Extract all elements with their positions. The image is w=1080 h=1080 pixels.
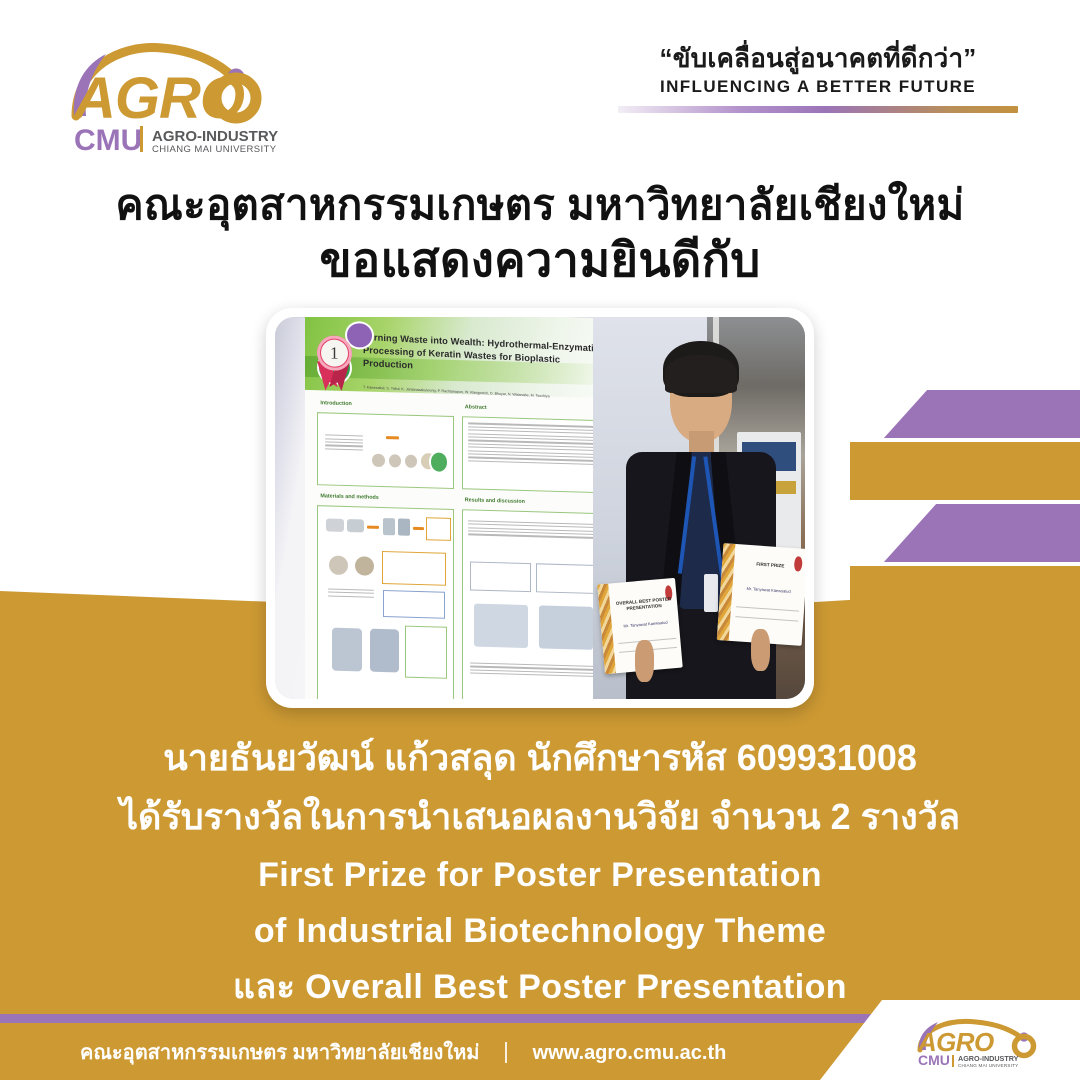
tagline-english: INFLUENCING A BETTER FUTURE — [618, 77, 1018, 97]
poster-figure — [370, 628, 400, 672]
agro-cmu-logo-footer: AGRO CMU AGRO-INDUSTRY CHIANG MAI UNIVER… — [908, 1016, 1058, 1068]
first-place-ribbon-icon: 1 — [312, 333, 358, 392]
poster-arrow — [386, 436, 400, 439]
certificate-rule — [736, 607, 799, 612]
congratulations-poster: AGRO CMU AGRO-INDUSTRY CHIANG MAI UNIVER… — [0, 0, 1080, 1080]
award-line-theme: of Industrial Biotechnology Theme — [0, 909, 1080, 953]
award-photo: Turning Waste into Wealth: Hydrothermal-… — [275, 317, 805, 699]
person-hair-front — [665, 355, 737, 393]
svg-text:CMU: CMU — [918, 1052, 950, 1068]
poster-section-label-materials: Materials and methods — [320, 493, 378, 501]
poster-chart — [474, 604, 528, 648]
stripe-purple-3 — [1064, 504, 1080, 562]
footer-website-link[interactable]: www.agro.cmu.ac.th — [533, 1042, 727, 1064]
stripe-purple-2 — [884, 504, 1080, 562]
footer-separator — [505, 1042, 507, 1063]
poster-figure — [398, 518, 410, 536]
poster-section-label-abstract: Abstract — [465, 404, 487, 411]
poster-arrow — [413, 526, 424, 529]
photo-scene-right: OVERALL BEST POSTER PRESENTATION Mr. Tan… — [593, 317, 805, 699]
ribbon-disc: 1 — [317, 335, 352, 371]
stripe-gold-1 — [850, 442, 1080, 500]
certificate-border-left — [597, 583, 616, 674]
poster-callout — [426, 517, 451, 541]
stripe-gold-2 — [979, 442, 1080, 500]
poster-section-introduction — [317, 412, 454, 489]
svg-text:AGRO-INDUSTRY: AGRO-INDUSTRY — [958, 1054, 1019, 1063]
certificate-title: OVERALL BEST POSTER PRESENTATION — [614, 596, 673, 612]
award-recipient-person: OVERALL BEST POSTER PRESENTATION Mr. Tan… — [623, 351, 780, 699]
poster-section-results — [462, 509, 605, 699]
tagline-block: “ขับเคลื่อนสู่อนาคตที่ดีกว่า” INFLUENCIN… — [618, 44, 1018, 113]
headline-block: คณะอุตสาหกรรมเกษตร มหาวิทยาลัยเชียงใหม่ … — [0, 180, 1080, 287]
person-hand-right — [751, 629, 770, 671]
poster-image-chip — [389, 454, 401, 467]
poster-callout — [382, 551, 446, 586]
headline-line-2: ขอแสดงความยินดีกับ — [0, 232, 1080, 287]
poster-figure — [332, 627, 362, 671]
award-details-block: นายธันยวัฒน์ แก้วสลุด นักศึกษารหัส 60993… — [0, 735, 1080, 1009]
award-line-prize-1: First Prize for Poster Presentation — [0, 853, 1080, 897]
footer-faculty-name: คณะอุตสาหกรรมเกษตร มหาวิทยาลัยเชียงใหม่ — [80, 1042, 479, 1064]
poster-table — [536, 563, 597, 594]
research-poster-board: Turning Waste into Wealth: Hydrothermal-… — [275, 317, 609, 699]
poster-image-chip — [372, 454, 384, 467]
poster-table — [470, 561, 531, 592]
poster-figure — [347, 519, 365, 533]
poster-callout — [383, 590, 444, 619]
poster-section-label-introduction: Introduction — [320, 400, 351, 407]
poster-bio-icon — [429, 450, 449, 473]
poster-figure — [355, 556, 374, 576]
certificate-title: FIRST PRIZE — [739, 560, 802, 570]
award-photo-card: Turning Waste into Wealth: Hydrothermal-… — [266, 308, 814, 708]
agro-cmu-logo-header: AGRO CMU AGRO-INDUSTRY CHIANG MAI UNIVER… — [58, 38, 288, 158]
agro-cmu-logo-icon: AGRO CMU AGRO-INDUSTRY CHIANG MAI UNIVER… — [58, 38, 288, 158]
ribbon-number: 1 — [321, 340, 348, 368]
poster-figure — [326, 518, 344, 532]
svg-text:CHIANG MAI UNIVERSITY: CHIANG MAI UNIVERSITY — [152, 144, 277, 155]
svg-text:CHIANG MAI UNIVERSITY: CHIANG MAI UNIVERSITY — [958, 1063, 1018, 1068]
tagline-gradient-rule — [618, 106, 1018, 113]
poster-callout — [405, 625, 448, 679]
poster-section-abstract — [462, 416, 605, 494]
footer-text-group: คณะอุตสาหกรรมเกษตร มหาวิทยาลัยเชียงใหม่ … — [80, 1036, 726, 1068]
certificate-name: Mr. Tanyawat Kaewsalud — [616, 618, 674, 628]
poster-chart — [539, 606, 593, 650]
poster-text-lines — [325, 435, 363, 453]
certificate-name: Mr. Tanyawat Kaewsalud — [737, 585, 800, 594]
svg-text:CMU: CMU — [74, 124, 142, 157]
stripe-purple-1 — [884, 390, 1080, 438]
poster-section-label-results: Results and discussion — [465, 497, 525, 505]
agro-cmu-logo-icon-footer: AGRO CMU AGRO-INDUSTRY CHIANG MAI UNIVER… — [908, 1016, 1058, 1068]
headline-line-1: คณะอุตสาหกรรมเกษตร มหาวิทยาลัยเชียงใหม่ — [0, 180, 1080, 230]
poster-figure — [329, 555, 348, 575]
award-line-count: ได้รับรางวัลในการนำเสนอผลงานวิจัย จำนวน … — [0, 794, 1080, 841]
tagline-thai: “ขับเคลื่อนสู่อนาคตที่ดีกว่า” — [618, 44, 1018, 74]
svg-text:AGRO-INDUSTRY: AGRO-INDUSTRY — [152, 128, 278, 145]
certificate-rule — [735, 616, 798, 621]
poster-text-lines — [468, 423, 598, 467]
poster-arrow — [367, 525, 379, 528]
poster-text-lines — [468, 520, 598, 541]
poster-figure — [383, 518, 395, 536]
award-line-student: นายธันยวัฒน์ แก้วสลุด นักศึกษารหัส 60993… — [0, 735, 1080, 782]
poster-section-materials — [317, 505, 454, 699]
poster-image-chip — [405, 455, 417, 468]
poster-text-lines — [328, 588, 374, 599]
lanyard-id-badge — [704, 574, 718, 612]
person-hand-left — [635, 640, 654, 682]
poster-text-lines — [470, 662, 594, 679]
